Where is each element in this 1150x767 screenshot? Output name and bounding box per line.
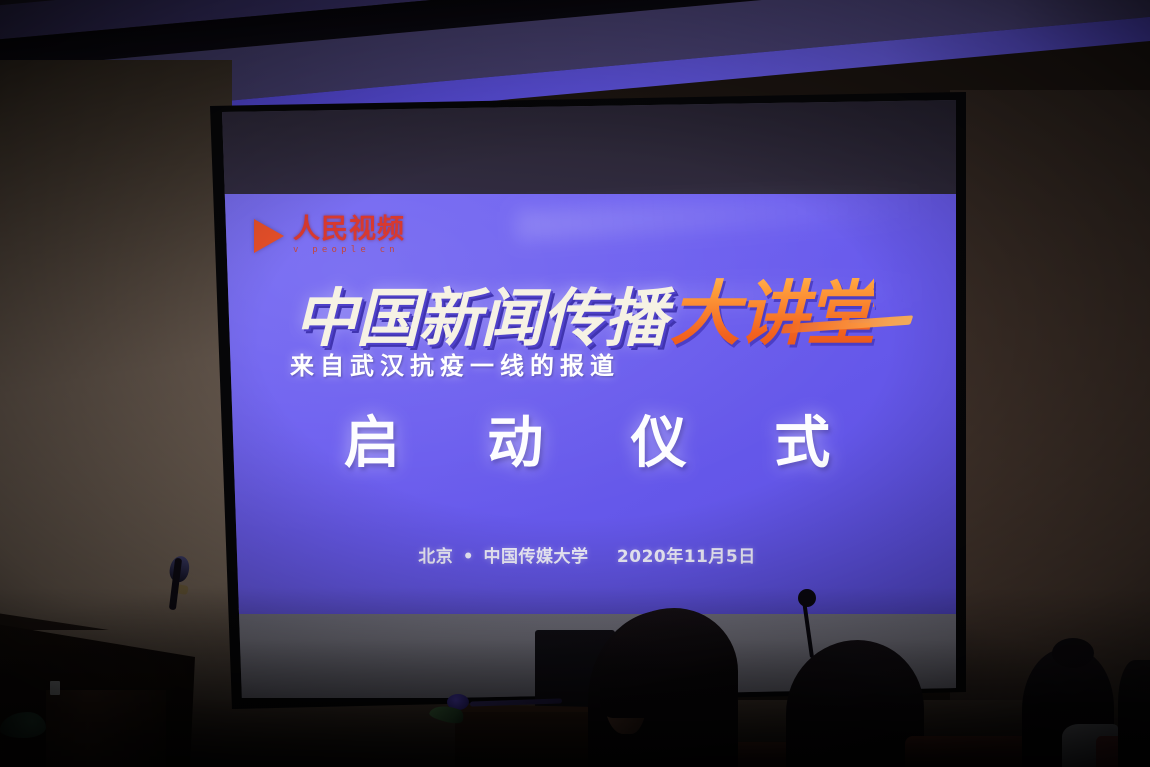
slide-footer: 北京 • 中国传媒大学 2020年11月5日 bbox=[216, 542, 958, 567]
podium-column bbox=[46, 690, 166, 767]
audience-person-hair-bun bbox=[1052, 638, 1094, 668]
brand-logo-text: 人民视频 v people cn bbox=[293, 216, 405, 255]
projector-screen-surface[interactable]: 人民视频 v people cn 中国新闻传播 大讲堂 来自武汉抗疫一线的报道 … bbox=[216, 98, 958, 698]
audience-person-edge bbox=[1118, 660, 1150, 767]
projection-scene: 人民视频 v people cn 中国新闻传播 大讲堂 来自武汉抗疫一线的报道 … bbox=[0, 0, 1150, 767]
play-triangle-icon bbox=[254, 219, 284, 253]
slide-subtitle: 来自武汉抗疫一线的报道 bbox=[290, 346, 620, 381]
slide-main-title: 中国新闻传播 大讲堂 bbox=[294, 258, 874, 359]
footer-separator: • bbox=[463, 547, 474, 567]
slide-light-streak-upper bbox=[516, 189, 937, 241]
brand-logo: 人民视频 v people cn bbox=[254, 216, 405, 255]
slide-headline: 启 动 仪 式 bbox=[216, 398, 958, 479]
footer-venue: 中国传媒大学 bbox=[483, 547, 588, 567]
presentation-slide[interactable]: 人民视频 v people cn 中国新闻传播 大讲堂 来自武汉抗疫一线的报道 … bbox=[216, 194, 958, 614]
podium-name-plate bbox=[50, 681, 60, 695]
brand-name-chinese: 人民视频 bbox=[293, 216, 405, 243]
brand-name-latin: v people cn bbox=[293, 246, 405, 255]
gooseneck-microphone-icon bbox=[798, 589, 816, 607]
footer-city: 北京 bbox=[418, 547, 453, 567]
screen-letterbox-top bbox=[216, 98, 958, 202]
title-segment-orange: 大讲堂 bbox=[670, 258, 874, 359]
footer-date: 2020年11月5日 bbox=[617, 547, 756, 567]
